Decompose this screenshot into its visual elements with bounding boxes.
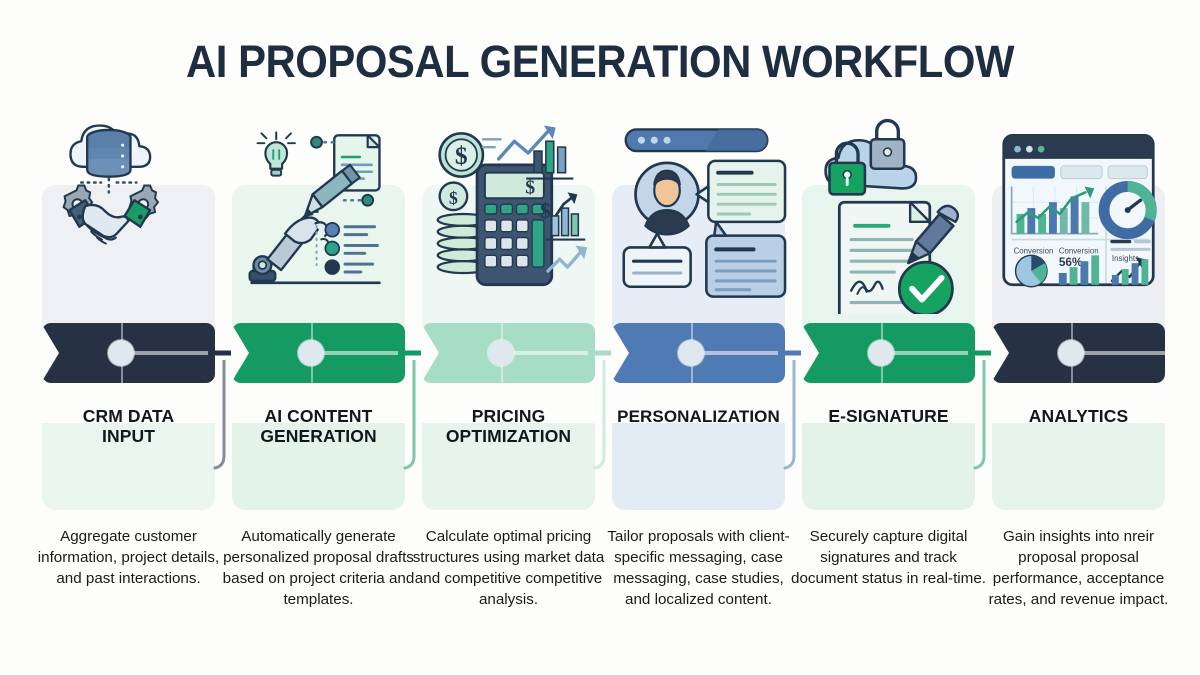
band-notch [801, 323, 819, 383]
workflow-diagram: CRM DATA INPUT Aggregate customer inform… [42, 145, 1176, 645]
calculator-coins-chart-icon [420, 114, 597, 314]
step-connector-band [612, 323, 785, 383]
band-track-line [700, 351, 786, 355]
robot-arm-pen-icon [230, 114, 407, 314]
step-node-dot [488, 340, 514, 366]
step-node-dot [298, 340, 324, 366]
band-track-line [890, 351, 976, 355]
workflow-step-1[interactable]: CRM DATA INPUT Aggregate customer inform… [42, 145, 215, 645]
workflow-step-2[interactable]: AI CONTENT GENERATION Automatically gene… [232, 145, 405, 645]
band-notch [611, 323, 629, 383]
step-description: Automatically generate personalized prop… [220, 527, 417, 611]
step-connector-band [802, 323, 975, 383]
band-track-line [510, 351, 596, 355]
step-connector-band [422, 323, 595, 383]
step-description: Securely capture digital signatures and … [790, 527, 987, 590]
band-notch [41, 323, 59, 383]
step-description: Tailor proposals with client-specific me… [600, 527, 797, 611]
band-notch [231, 323, 249, 383]
step-title: CRM DATA INPUT [42, 407, 215, 446]
step-connector-band [992, 323, 1165, 383]
step-node-dot [868, 340, 894, 366]
workflow-step-3[interactable]: PRICING OPTIMIZATION Calculate optimal p… [422, 145, 595, 645]
step-node-dot [1058, 340, 1084, 366]
workflow-step-6[interactable]: ANALYTICS Gain insights into nreir propo… [992, 145, 1165, 645]
step-connector-band [232, 323, 405, 383]
step-title: AI CONTENT GENERATION [232, 407, 405, 446]
page-title: AI PROPOSAL GENERATION WORKFLOW [42, 36, 1158, 88]
band-track-line [320, 351, 406, 355]
step-title: ANALYTICS [992, 407, 1165, 427]
step-title-panel [802, 423, 975, 510]
band-track-line [1080, 351, 1166, 355]
cloud-database-handshake-icon [40, 114, 217, 314]
step-description: Calculate optimal pricing structures usi… [410, 527, 607, 611]
step-title: PERSONALIZATION [606, 407, 791, 426]
step-connector-band [42, 323, 215, 383]
step-node-dot [678, 340, 704, 366]
workflow-step-5[interactable]: E-SIGNATURE Securely capture digital sig… [802, 145, 975, 645]
step-title: PRICING OPTIMIZATION [422, 407, 595, 446]
step-title-panel [992, 423, 1165, 510]
step-description: Aggregate customer information, project … [30, 527, 227, 590]
step-description: Gain insights into nreir proposal propos… [980, 527, 1177, 611]
analytics-dashboard-icon [990, 114, 1167, 314]
signed-document-lock-icon [800, 114, 977, 314]
workflow-step-4[interactable]: PERSONALIZATION Tailor proposals with cl… [612, 145, 785, 645]
user-avatar-chat-icon [610, 114, 787, 314]
step-title-panel [612, 423, 785, 510]
band-track-line [130, 351, 216, 355]
step-node-dot [108, 340, 134, 366]
band-notch [421, 323, 439, 383]
step-title: E-SIGNATURE [802, 407, 975, 427]
band-notch [991, 323, 1009, 383]
